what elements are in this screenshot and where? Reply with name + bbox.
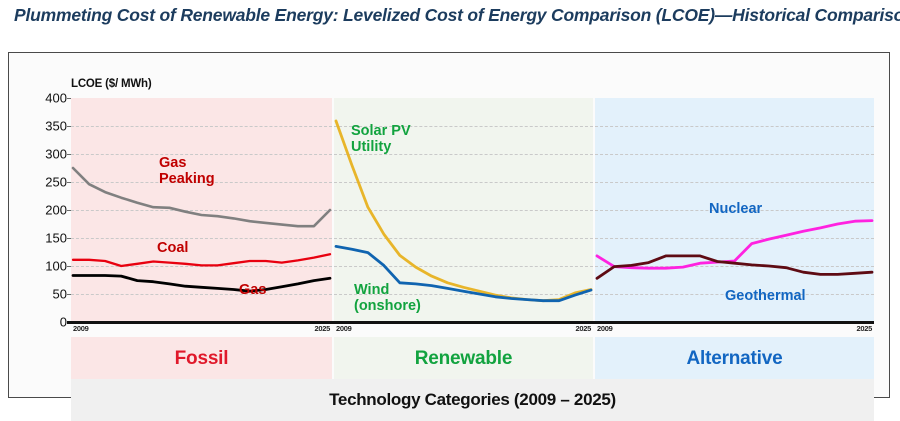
annotation-coal: Coal	[157, 241, 188, 257]
page-title: Plummeting Cost of Renewable Energy: Lev…	[14, 5, 900, 26]
year-start-renewable: 2009	[336, 324, 352, 333]
category-label-alternative: Alternative	[595, 348, 874, 370]
y-tick-0: 0	[23, 315, 67, 330]
x-axis-title: Technology Categories (2009 – 2025)	[71, 390, 874, 410]
series-coal	[73, 254, 330, 266]
y-tick-400: 400	[23, 91, 67, 106]
annotation-wind: Wind (onshore)	[354, 283, 421, 314]
y-tick-50: 50	[23, 287, 67, 302]
year-row-renewable: 2009 2025	[334, 324, 593, 337]
year-end-alternative: 2025	[857, 324, 873, 333]
y-tick-100: 100	[23, 259, 67, 274]
panel-alternative: Nuclear Geothermal	[595, 98, 874, 322]
annotation-solar-pv: Solar PV Utility	[351, 124, 411, 155]
y-tick-250: 250	[23, 175, 67, 190]
footer-bar: Technology Categories (2009 – 2025)	[71, 379, 874, 421]
chart-page: Plummeting Cost of Renewable Energy: Lev…	[0, 0, 900, 405]
year-end-fossil: 2025	[315, 324, 331, 333]
year-start-fossil: 2009	[73, 324, 89, 333]
category-label-fossil: Fossil	[71, 348, 332, 370]
y-tick-300: 300	[23, 147, 67, 162]
panel-fossil: Gas Peaking Coal Gas	[71, 98, 332, 322]
y-axis-labels: 400 350 300 250 200 150 100 50 0	[23, 98, 67, 322]
y-tick-150: 150	[23, 231, 67, 246]
series-nuclear	[597, 221, 872, 269]
y-axis-title: LCOE ($/ MWh)	[71, 78, 151, 90]
annotation-gas-peaking: Gas Peaking	[159, 156, 215, 187]
year-row-fossil: 2009 2025	[71, 324, 332, 337]
series-gas	[73, 276, 330, 292]
category-band-fossil: Fossil	[71, 337, 332, 379]
y-tick-350: 350	[23, 119, 67, 134]
year-end-renewable: 2025	[576, 324, 592, 333]
fossil-series-svg	[71, 98, 332, 322]
annotation-geothermal: Geothermal	[725, 289, 806, 305]
panel-renewable: Solar PV Utility Wind (onshore)	[334, 98, 593, 322]
chart-frame: LCOE ($/ MWh) 400 350 300 250 200 150 10…	[8, 52, 890, 398]
annotation-nuclear: Nuclear	[709, 202, 762, 218]
year-start-alternative: 2009	[597, 324, 613, 333]
year-row-alternative: 2009 2025	[595, 324, 874, 337]
y-tick-200: 200	[23, 203, 67, 218]
category-label-renewable: Renewable	[334, 348, 593, 370]
category-band-alternative: Alternative	[595, 337, 874, 379]
category-band-renewable: Renewable	[334, 337, 593, 379]
annotation-gas: Gas	[239, 283, 266, 299]
